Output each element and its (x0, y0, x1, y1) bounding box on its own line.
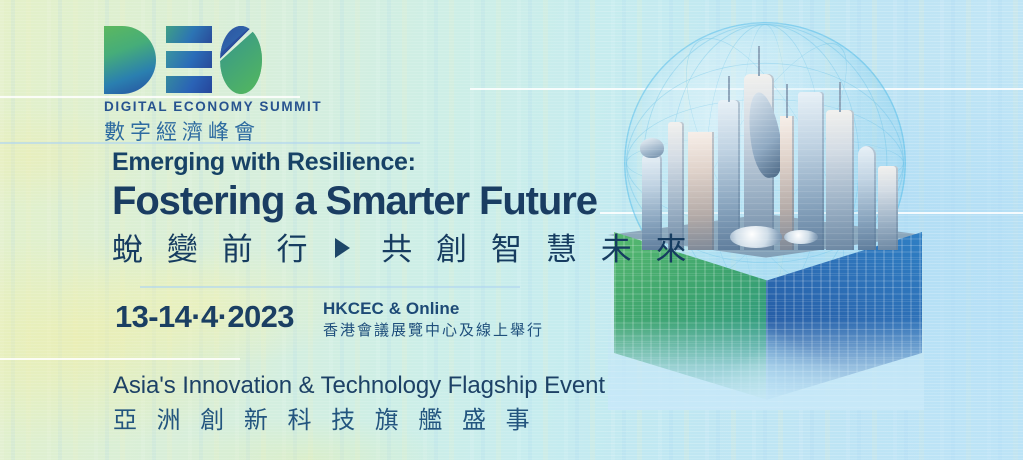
headline-line-1: Emerging with Resilience: (112, 148, 632, 178)
tagline-chinese: 亞 洲 創 新 科 技 旗 艦 盛 事 (113, 405, 605, 436)
event-tagline: Asia's Innovation & Technology Flagship … (113, 370, 605, 436)
venue-chinese: 香港會議展覽中心及線上舉行 (323, 321, 544, 340)
smart-city-artwork (596, 0, 1023, 460)
des-logo[interactable]: DIGITAL ECONOMY SUMMIT 數字經濟峰會 (104, 26, 266, 146)
event-date: 13-14·4·2023 (115, 298, 294, 332)
logo-letter-e-icon (166, 26, 212, 94)
glitch-streak (140, 286, 520, 288)
headline-line-2: Fostering a Smarter Future (112, 179, 632, 224)
logo-chinese-name: 數字經濟峰會 (104, 116, 266, 146)
des-logo-mark (104, 26, 262, 94)
event-details: 13-14·4·2023 HKCEC & Online 香港會議展覽中心及線上舉… (115, 298, 544, 340)
headline-chinese-right: 共 創 智 慧 未 來 (381, 232, 693, 268)
cube-bottom-fade (608, 318, 924, 410)
tagline-english: Asia's Innovation & Technology Flagship … (113, 370, 605, 401)
glitch-streak (0, 358, 240, 360)
logo-letter-s-icon (220, 26, 262, 94)
headline-chinese-left: 蛻 變 前 行 (112, 232, 315, 268)
des-event-banner: DIGITAL ECONOMY SUMMIT 數字經濟峰會 Emerging w… (0, 0, 1023, 460)
event-venue: HKCEC & Online 香港會議展覽中心及線上舉行 (323, 298, 544, 340)
play-triangle-icon (335, 238, 350, 258)
logo-english-name: DIGITAL ECONOMY SUMMIT (104, 99, 266, 114)
headline-block: Emerging with Resilience: Fostering a Sm… (112, 148, 632, 269)
venue-english: HKCEC & Online (323, 298, 544, 319)
futuristic-skyline (634, 58, 902, 250)
headline-chinese: 蛻 變 前 行 共 創 智 慧 未 來 (112, 232, 632, 269)
logo-letter-d-icon (104, 26, 156, 94)
